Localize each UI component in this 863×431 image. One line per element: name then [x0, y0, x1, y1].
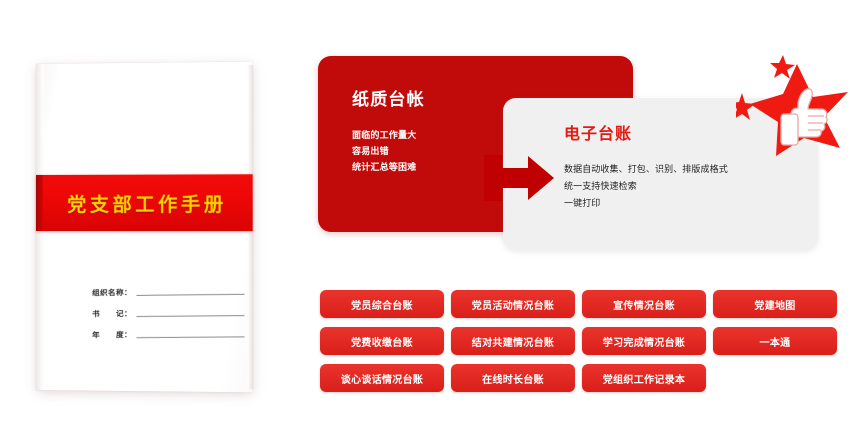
ledger-button-grid: 党员综合台账 党员活动情况台账 宣传情况台账 党建地图 党费收缴台账 结对共建情…: [320, 290, 836, 392]
ledger-button-online-duration[interactable]: 在线时长台账: [451, 364, 575, 392]
digital-ledger-point: 数据自动收集、打包、识别、排版成格式: [564, 161, 728, 178]
book-cover: 党支部工作手册 组织名称： 书 记： 年 度：: [36, 62, 253, 393]
cover-field-label-org: 组织名称：: [92, 287, 132, 299]
digital-ledger-point: 统一支持快速检索: [564, 178, 728, 195]
cover-field-label-year: 年 度：: [92, 329, 132, 340]
book-mockup: 党支部工作手册 组织名称： 书 记： 年 度：: [36, 64, 254, 394]
ledger-button-party-dues[interactable]: 党费收缴台账: [320, 327, 444, 355]
ledger-button-heart-to-heart-talk[interactable]: 谈心谈话情况台账: [320, 364, 444, 392]
ledger-button-party-member-activity[interactable]: 党员活动情况台账: [451, 290, 575, 318]
ledger-button-org-work-record[interactable]: 党组织工作记录本: [582, 364, 706, 392]
ledger-button-study-completion[interactable]: 学习完成情况台账: [582, 327, 706, 355]
digital-ledger-point: 一键打印: [564, 195, 728, 212]
paper-ledger-point-list: 面临的工作量大 容易出错 统计汇总等困难: [352, 127, 416, 175]
ledger-button-all-in-one[interactable]: 一本通: [713, 327, 837, 355]
ledger-button-party-member-summary[interactable]: 党员综合台账: [320, 290, 444, 318]
cover-field-row: 年 度：: [92, 328, 244, 340]
cover-field-line: [136, 294, 244, 296]
paper-ledger-point: 容易出错: [352, 143, 416, 159]
digital-ledger-point-list: 数据自动收集、打包、识别、排版成格式 统一支持快速检索 一键打印: [564, 161, 728, 212]
thumbs-up-star-icon: [736, 52, 848, 156]
paper-ledger-point: 统计汇总等困难: [352, 159, 416, 175]
cover-field-label-secretary: 书 记：: [92, 308, 132, 319]
book-cover-title: 党支部工作手册: [61, 189, 227, 216]
cover-field-line: [136, 315, 244, 317]
cover-field-line: [136, 336, 244, 338]
cover-field-list: 组织名称： 书 记： 年 度：: [92, 286, 244, 351]
paper-ledger-title: 纸质台帐: [352, 85, 425, 110]
ledger-button-publicity[interactable]: 宣传情况台账: [582, 290, 706, 318]
right-arrow-icon: [484, 155, 554, 201]
paper-ledger-point: 面临的工作量大: [352, 127, 416, 143]
ledger-button-pairing-cooperation[interactable]: 结对共建情况台账: [451, 327, 575, 355]
ledger-button-party-building-map[interactable]: 党建地图: [713, 290, 837, 318]
cover-title-banner: 党支部工作手册: [36, 174, 253, 231]
cover-field-row: 书 记：: [92, 307, 244, 320]
digital-ledger-title: 电子台账: [564, 120, 632, 144]
cover-field-row: 组织名称：: [92, 286, 244, 299]
